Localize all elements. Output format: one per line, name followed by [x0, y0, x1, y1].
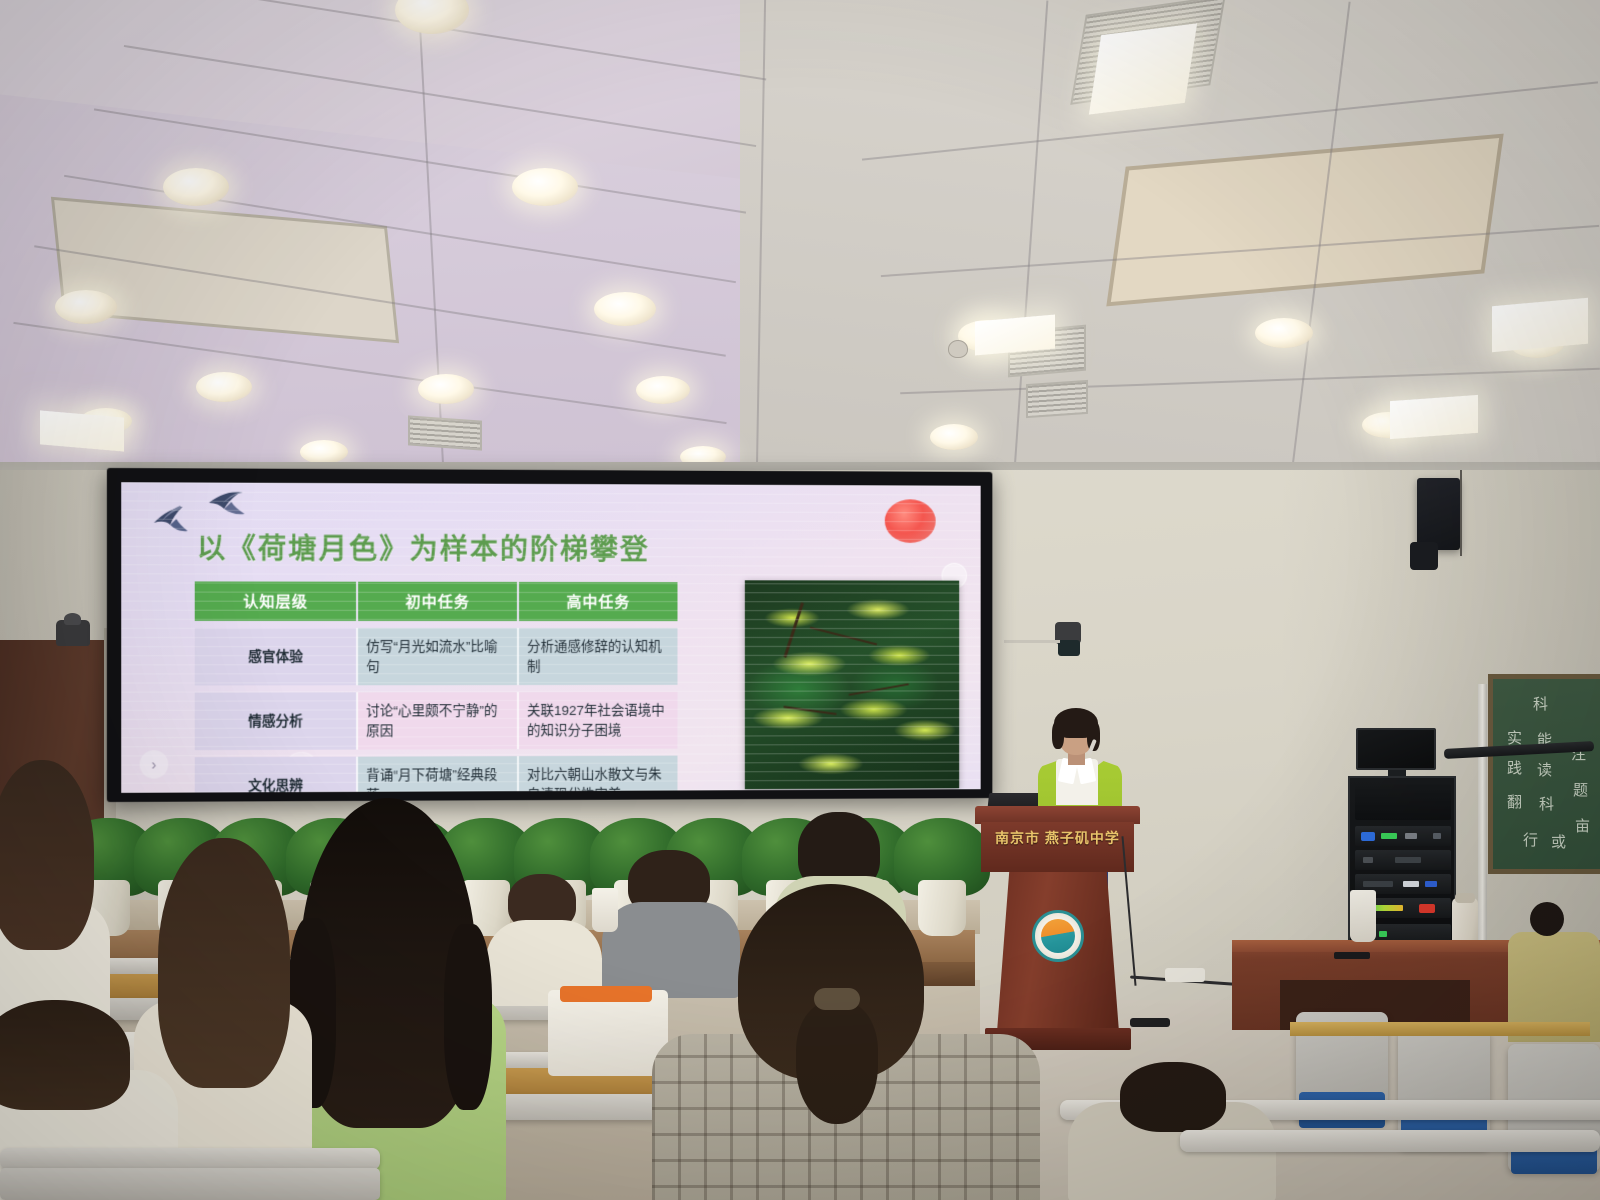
- table-cell-level: 文化思辨: [195, 757, 357, 793]
- slide-title: 以《荷塘月色》为样本的阶梯攀登: [197, 527, 650, 568]
- remote-control[interactable]: [1334, 952, 1370, 959]
- board-track-pole: [1478, 684, 1487, 944]
- table-cell-senior: 关联1927年社会语境中的知识分子困境: [518, 692, 678, 749]
- hvac-vent: [408, 415, 482, 450]
- table-header-row: 认知层级 初中任务 高中任务: [195, 581, 678, 621]
- ceiling-downlight: [196, 372, 252, 402]
- table-cell-level: 感官体验: [195, 628, 357, 686]
- lecture-hall-scene: 以《荷塘月色》为样本的阶梯攀登 认知层级 初中任务 高中任务 感官体验 仿写“月…: [0, 0, 1600, 1200]
- ceiling-panel-light: [1089, 23, 1197, 114]
- dome-camera-icon: [948, 340, 968, 358]
- table-cell-junior: 仿写“月光如流水”比喻句: [357, 628, 518, 685]
- drink-cup: [1350, 890, 1376, 942]
- table-row: 文化思辨 背诵“月下荷塘”经典段落 对比六朝山水散文与朱自清现代性审美: [195, 756, 678, 793]
- drink-cup: [592, 888, 618, 932]
- ceiling-downlight: [512, 168, 578, 206]
- bench-rail: [0, 1148, 380, 1170]
- audience-member: [646, 884, 1046, 1200]
- table-cell-junior: 背诵“月下荷塘”经典段落: [357, 756, 518, 792]
- table-cell-senior: 分析通感修辞的认知机制: [518, 628, 678, 685]
- table-cell-junior: 讨论“心里颇不宁静”的原因: [357, 692, 518, 750]
- table-header-cell: 高中任务: [518, 582, 678, 621]
- slide-next-icon[interactable]: ›: [140, 750, 169, 778]
- ceiling-downlight: [594, 292, 656, 326]
- wall-camera-icon: [56, 620, 90, 646]
- ceiling-downlight: [636, 376, 690, 404]
- speaker-cable: [1460, 470, 1462, 556]
- wall-speaker-bracket: [1410, 542, 1438, 570]
- hair-tie: [814, 988, 860, 1010]
- ceiling-panel-light: [40, 410, 124, 451]
- ceiling: [0, 0, 1600, 482]
- power-adapter: [1165, 968, 1205, 982]
- table-cell-level: 情感分析: [195, 692, 357, 750]
- ptz-camera-base: [1058, 640, 1080, 656]
- bench-wood-ledge: [1290, 1022, 1590, 1036]
- thermos-cap: [1455, 893, 1475, 903]
- ceiling-downlight: [300, 440, 348, 464]
- ceiling-downlight: [930, 424, 978, 450]
- ceiling-panel-light: [975, 315, 1055, 356]
- table-row: 情感分析 讨论“心里颇不宁静”的原因 关联1927年社会语境中的知识分子困境: [195, 692, 678, 750]
- table-header-cell: 初中任务: [357, 582, 518, 621]
- bag-handle: [560, 986, 652, 1002]
- red-sun-circle-icon: [885, 499, 936, 543]
- ceiling-downlight: [163, 168, 229, 206]
- slide-photo-foliage: [745, 580, 959, 789]
- ceiling-downlight: [55, 290, 117, 324]
- cable-connector: [1130, 1018, 1170, 1027]
- audience-member-right: [1508, 904, 1600, 1034]
- ceiling-panel-light: [1390, 395, 1478, 439]
- table-cell-senior: 对比六朝山水散文与朱自清现代性审美: [518, 756, 678, 793]
- rack-monitor[interactable]: [1356, 728, 1436, 770]
- table-header-cell: 认知层级: [195, 581, 357, 620]
- wall-speaker-icon: [1417, 478, 1460, 550]
- bench-rail: [1180, 1130, 1600, 1152]
- ceiling-downlight: [1255, 318, 1313, 348]
- hvac-vent: [1026, 380, 1088, 418]
- bench-panel: [0, 1168, 380, 1200]
- chalkboard: 科 实 能 践 读 注 翻 科 题 行 或 亩: [1488, 674, 1600, 874]
- ceiling-panel-light: [1492, 298, 1588, 352]
- slide-table: 认知层级 初中任务 高中任务 感官体验 仿写“月光如流水”比喻句 分析通感修辞的…: [195, 581, 678, 792]
- projection-screen[interactable]: 以《荷塘月色》为样本的阶梯攀登 认知层级 初中任务 高中任务 感官体验 仿写“月…: [107, 468, 992, 802]
- camera-mount-rail: [1004, 640, 1060, 643]
- slide-content: 以《荷塘月色》为样本的阶梯攀登 认知层级 初中任务 高中任务 感官体验 仿写“月…: [121, 482, 980, 793]
- podium-school-name: 南京市 燕子矶中学: [981, 828, 1134, 848]
- table-row: 感官体验 仿写“月光如流水”比喻句 分析通感修辞的认知机制: [195, 628, 678, 686]
- ceiling-downlight: [418, 374, 474, 404]
